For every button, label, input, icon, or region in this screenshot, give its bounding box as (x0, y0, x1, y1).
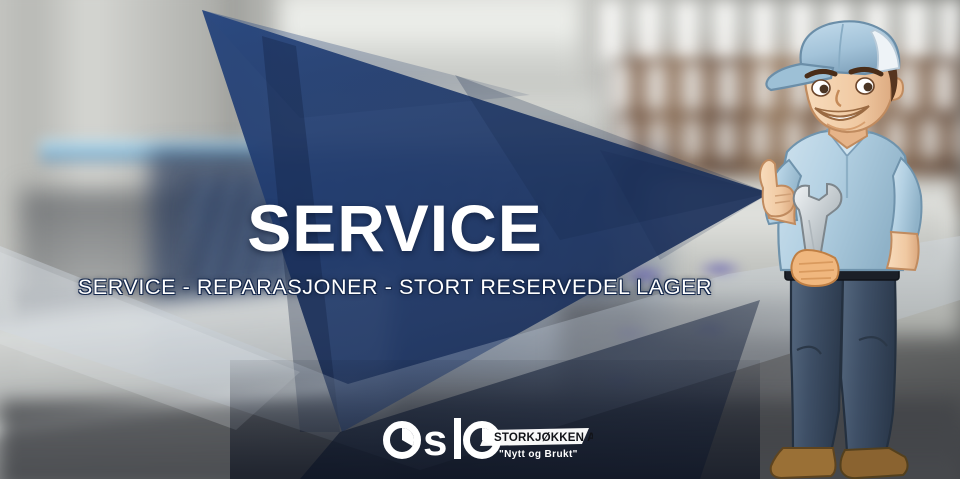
page-title: SERVICE (0, 195, 790, 261)
logo-letter-o-1 (387, 425, 418, 456)
page-subtitle: SERVICE - REPARASJONER - STORT RESERVEDE… (0, 275, 790, 300)
mascot-pupil-right (864, 83, 873, 92)
logo-tagline: "Nytt og Brukt" (499, 449, 578, 460)
logo-wordmark-oslo: s (387, 416, 498, 465)
mascot-leg-right (841, 278, 896, 454)
logo-company-name: STORKJØKKEN AS (494, 432, 593, 444)
logo-letter-s: s (423, 416, 447, 465)
mascot-gripping-hand (791, 250, 838, 286)
headline-block: SERVICE SERVICE - REPARASJONER - STORT R… (0, 195, 790, 300)
mascot-leg-left (791, 278, 843, 452)
mascot-arm-right (891, 158, 922, 238)
mascot-pupil-left (820, 85, 829, 94)
mascot-shoe-right (841, 448, 908, 478)
mascot-forearm-right (887, 232, 919, 270)
logo-letter-l (454, 418, 461, 459)
mascot-shoe-left (771, 448, 836, 478)
service-banner: SERVICE SERVICE - REPARASJONER - STORT R… (0, 0, 960, 479)
logo[interactable]: s STORKJØKKEN AS "Nytt og Brukt" (383, 416, 593, 472)
